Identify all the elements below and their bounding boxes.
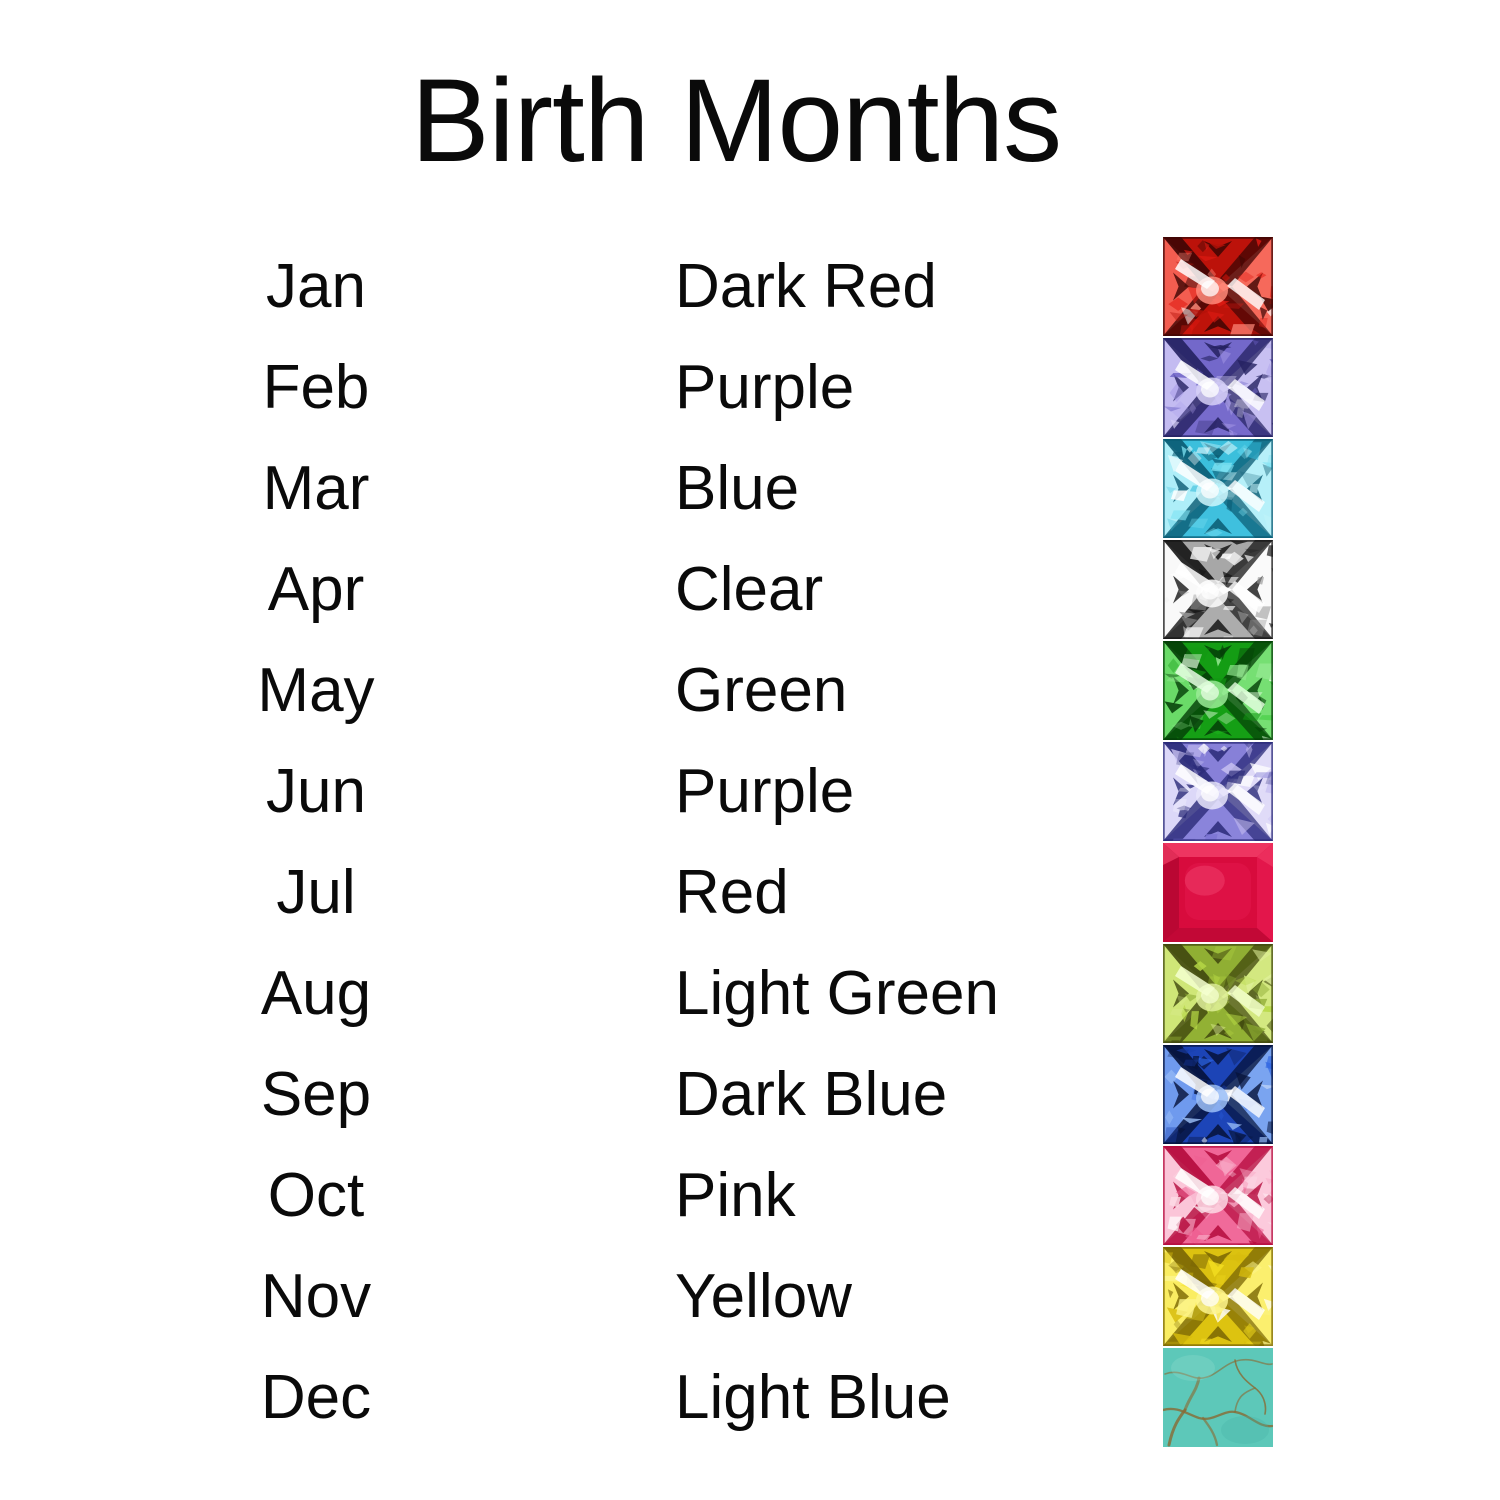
month-label: Dec [176, 1347, 456, 1448]
gem-swatch-cell [1162, 1246, 1274, 1347]
gem-swatch-cell [1162, 438, 1274, 539]
color-name-label: Yellow [675, 1246, 1145, 1347]
color-name-label: Dark Red [675, 236, 1145, 337]
gem-swatch-cell [1162, 640, 1274, 741]
color-name-label: Light Green [675, 943, 1145, 1044]
month-label: Apr [176, 539, 456, 640]
gem-swatch-cell [1162, 1347, 1274, 1448]
table-row: JunPurple [0, 741, 1500, 842]
month-label: Mar [176, 438, 456, 539]
month-label: Aug [176, 943, 456, 1044]
alexandrite-gem [1163, 742, 1273, 841]
month-label: Feb [176, 337, 456, 438]
garnet-gem [1163, 237, 1273, 336]
peridot-gem [1163, 944, 1273, 1043]
birth-months-table: JanDark RedFebPurpleMarBlueAprClearMayGr… [0, 236, 1500, 1448]
gem-swatch-cell [1162, 842, 1274, 943]
gem-swatch-cell [1162, 943, 1274, 1044]
color-name-label: Light Blue [675, 1347, 1145, 1448]
gem-swatch-cell [1162, 1044, 1274, 1145]
color-name-label: Purple [675, 741, 1145, 842]
table-row: JulRed [0, 842, 1500, 943]
turquoise-gem [1163, 1348, 1273, 1447]
emerald-gem [1163, 641, 1273, 740]
month-label: Jun [176, 741, 456, 842]
table-row: JanDark Red [0, 236, 1500, 337]
ruby-gem [1163, 843, 1273, 942]
gem-swatch-cell [1162, 539, 1274, 640]
table-row: DecLight Blue [0, 1347, 1500, 1448]
color-name-label: Dark Blue [675, 1044, 1145, 1145]
color-name-label: Red [675, 842, 1145, 943]
color-name-label: Pink [675, 1145, 1145, 1246]
citrine-gem [1163, 1247, 1273, 1346]
diamond-gem [1163, 540, 1273, 639]
color-name-label: Purple [675, 337, 1145, 438]
month-label: Jan [176, 236, 456, 337]
birth-months-infographic: Birth Months JanDark RedFebPurpleMarBlue… [0, 0, 1500, 1500]
month-label: Jul [176, 842, 456, 943]
table-row: FebPurple [0, 337, 1500, 438]
color-name-label: Clear [675, 539, 1145, 640]
gem-swatch-cell [1162, 337, 1274, 438]
month-label: Sep [176, 1044, 456, 1145]
table-row: SepDark Blue [0, 1044, 1500, 1145]
table-row: AugLight Green [0, 943, 1500, 1044]
gem-swatch-cell [1162, 741, 1274, 842]
month-label: May [176, 640, 456, 741]
table-row: OctPink [0, 1145, 1500, 1246]
gem-swatch-cell [1162, 236, 1274, 337]
aquamarine-gem [1163, 439, 1273, 538]
table-row: MayGreen [0, 640, 1500, 741]
month-label: Oct [176, 1145, 456, 1246]
table-row: AprClear [0, 539, 1500, 640]
tourmaline-gem [1163, 1146, 1273, 1245]
page-title: Birth Months [0, 62, 1472, 180]
month-label: Nov [176, 1246, 456, 1347]
table-row: NovYellow [0, 1246, 1500, 1347]
color-name-label: Blue [675, 438, 1145, 539]
color-name-label: Green [675, 640, 1145, 741]
sapphire-gem [1163, 1045, 1273, 1144]
gem-swatch-cell [1162, 1145, 1274, 1246]
amethyst-gem [1163, 338, 1273, 437]
table-row: MarBlue [0, 438, 1500, 539]
